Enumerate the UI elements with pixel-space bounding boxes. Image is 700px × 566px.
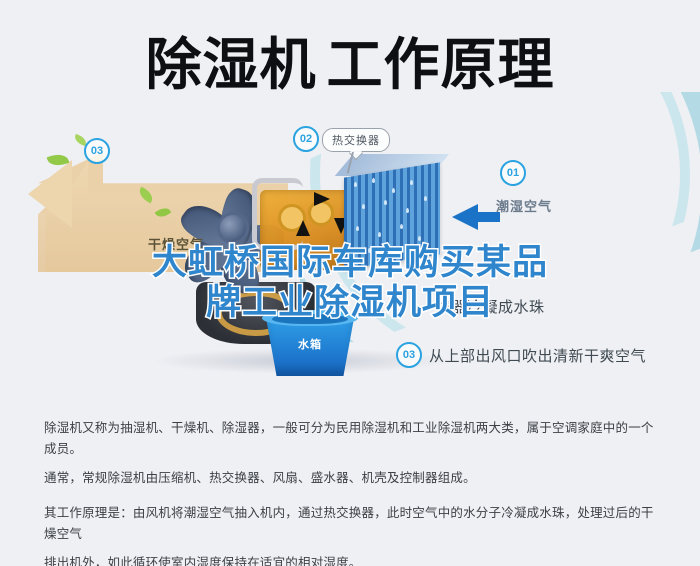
badge-03-outlet: 03 xyxy=(396,342,422,368)
flow-arrow-right-icon xyxy=(314,192,330,206)
flow-arrow-up-icon xyxy=(296,220,310,236)
title-part-2: 工作原理 xyxy=(327,33,555,96)
poster-root: 除湿机工作原理 xyxy=(0,0,700,566)
water-tank-label: 水箱 xyxy=(262,336,358,352)
body-copy: 除湿机又称为抽湿机、干燥机、除湿器，一般可分为民用除湿机和工业除湿机两大类，属于… xyxy=(44,418,658,566)
water-tank: 水箱 xyxy=(262,308,358,380)
step-03-text: 从上部出风口吹出清新干爽空气 xyxy=(429,345,646,366)
title-part-1: 除湿机 xyxy=(146,33,317,96)
label-humid-air: 潮湿空气 xyxy=(496,196,552,215)
badge-01-humid-air: 01 xyxy=(500,160,526,186)
paragraph-4: 排出机外，如此循环使室内湿度保持在适宜的相对湿度。 xyxy=(44,553,658,566)
badge-02-heat-exchanger: 02 xyxy=(293,126,319,152)
paragraph-2: 通常，常规除湿机由压缩机、热交换器、风扇、盛水器、机壳及控制器组成。 xyxy=(44,468,658,489)
humid-air-inlet-arrow-icon xyxy=(452,204,478,230)
heat-exchanger-callout: 热交换器 xyxy=(322,128,390,152)
heat-exchanger-block xyxy=(330,154,458,266)
fan-hub xyxy=(217,212,249,244)
page-title: 除湿机工作原理 xyxy=(0,26,700,104)
step-02-text: 发器冷凝成水珠 xyxy=(436,296,545,317)
dry-air-arrow-tip xyxy=(28,160,72,228)
paragraph-1: 除湿机又称为抽湿机、干燥机、除湿器，一般可分为民用除湿机和工业除湿机两大类，属于… xyxy=(44,418,658,460)
condensation-drops xyxy=(348,174,438,260)
step-02-line: 发器冷凝成水珠 xyxy=(436,296,545,317)
paragraph-3: 其工作原理是：由风机将潮湿空气抽入机内，通过热交换器，此时空气中的水分子冷凝成水… xyxy=(44,503,658,545)
badge-03-dry-air: 03 xyxy=(84,138,110,164)
step-03-line: 03 从上部出风口吹出清新干爽空气 xyxy=(396,342,646,368)
dehumidifier-diagram: 水箱 03 干燥空气 02 热交换器 01 潮湿空气 发器冷凝成水珠 03 从上… xyxy=(0,112,700,387)
label-dry-air: 干燥空气 xyxy=(148,234,204,253)
